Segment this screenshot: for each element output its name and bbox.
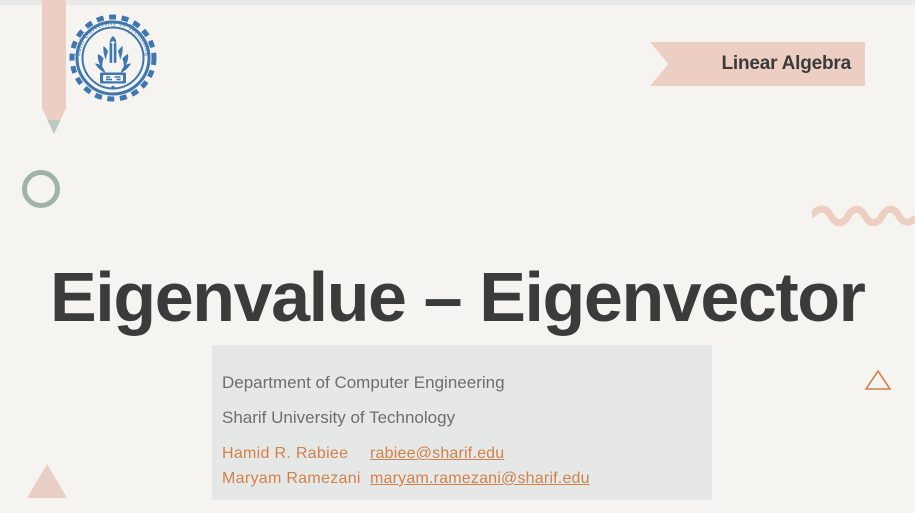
info-panel: Department of Computer Engineering Shari…	[212, 345, 712, 500]
author-name: Maryam Ramezani	[222, 466, 370, 491]
course-badge: Linear Algebra	[650, 42, 865, 86]
affiliation-line-university: Sharif University of Technology	[222, 400, 702, 435]
affiliation-line-department: Department of Computer Engineering	[222, 365, 702, 400]
page-title: Eigenvalue – Eigenvector	[50, 262, 880, 332]
sharif-university-logo: Sharif University of Technology	[65, 10, 161, 106]
author-row: Hamid R. Rabiee rabiee@sharif.edu	[222, 441, 702, 466]
squiggle-shape	[812, 205, 915, 231]
course-badge-label: Linear Algebra	[650, 42, 851, 86]
author-email-link[interactable]: maryam.ramezani@sharif.edu	[370, 466, 590, 491]
author-name: Hamid R. Rabiee	[222, 441, 370, 466]
author-row: Maryam Ramezani maryam.ramezani@sharif.e…	[222, 466, 702, 491]
title-slide: Sharif University of Technology Linear A…	[0, 0, 915, 513]
pencil-icon	[42, 0, 66, 134]
top-edge-strip	[0, 0, 915, 5]
triangle-outline-shape	[864, 369, 892, 391]
author-email-link[interactable]: rabiee@sharif.edu	[370, 441, 504, 466]
triangle-filled-shape	[26, 463, 68, 499]
authors-block: Hamid R. Rabiee rabiee@sharif.edu Maryam…	[222, 441, 702, 491]
ring-shape	[22, 170, 60, 208]
affiliation-block: Department of Computer Engineering Shari…	[222, 365, 702, 435]
